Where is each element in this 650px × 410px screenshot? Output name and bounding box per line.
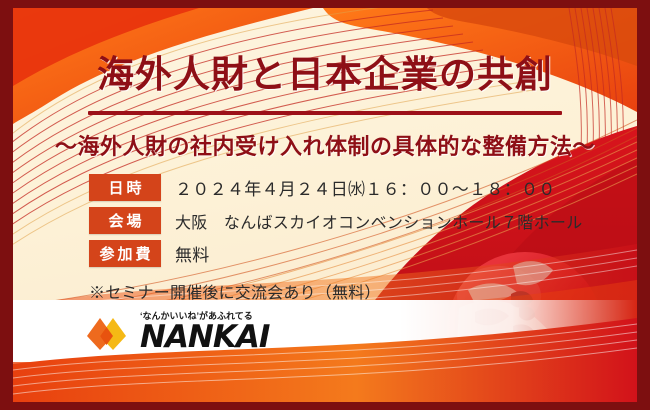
info-row-venue: 会場 大阪 なんばスカイオコンベンションホール７階ホール <box>89 207 583 234</box>
info-value-venue: 大阪 なんばスカイオコンベンションホール７階ホール <box>175 209 583 233</box>
nankai-twin-peak-mark-icon <box>85 316 131 352</box>
title-divider <box>88 111 562 115</box>
banner-inner: 海外人財と日本企業の共創 〜海外人財の社内受け入れ体制の具体的な整備方法〜 日時… <box>13 8 637 402</box>
seminar-banner: 海外人財と日本企業の共創 〜海外人財の社内受け入れ体制の具体的な整備方法〜 日時… <box>0 0 650 410</box>
label-badge-fee: 参加費 <box>89 240 161 267</box>
event-info: 日時 ２０２４年４月２４日㈬１６：００〜１８：００ 会場 大阪 なんばスカイオコ… <box>89 174 583 303</box>
page-subtitle: 〜海外人財の社内受け入れ体制の具体的な整備方法〜 <box>13 129 637 161</box>
logo-wordmark: NANKAI <box>140 323 269 352</box>
nankai-logo: ‘なんかいいね’があふれてる NANKAI <box>85 309 269 352</box>
page-title: 海外人財と日本企業の共創 <box>13 44 637 98</box>
info-value-date: ２０２４年４月２４日㈬１６：００〜１８：００ <box>175 175 556 200</box>
info-row-date: 日時 ２０２４年４月２４日㈬１６：００〜１８：００ <box>89 174 583 201</box>
label-badge-date: 日時 <box>89 174 161 201</box>
label-badge-venue: 会場 <box>89 207 161 234</box>
info-value-fee: 無料 <box>175 241 210 266</box>
logo-text-block: ‘なんかいいね’があふれてる NANKAI <box>140 309 269 352</box>
event-note: ※セミナー開催後に交流会あり（無料） <box>89 279 583 303</box>
title-block: 海外人財と日本企業の共創 〜海外人財の社内受け入れ体制の具体的な整備方法〜 <box>13 44 637 161</box>
info-row-fee: 参加費 無料 <box>89 240 583 267</box>
